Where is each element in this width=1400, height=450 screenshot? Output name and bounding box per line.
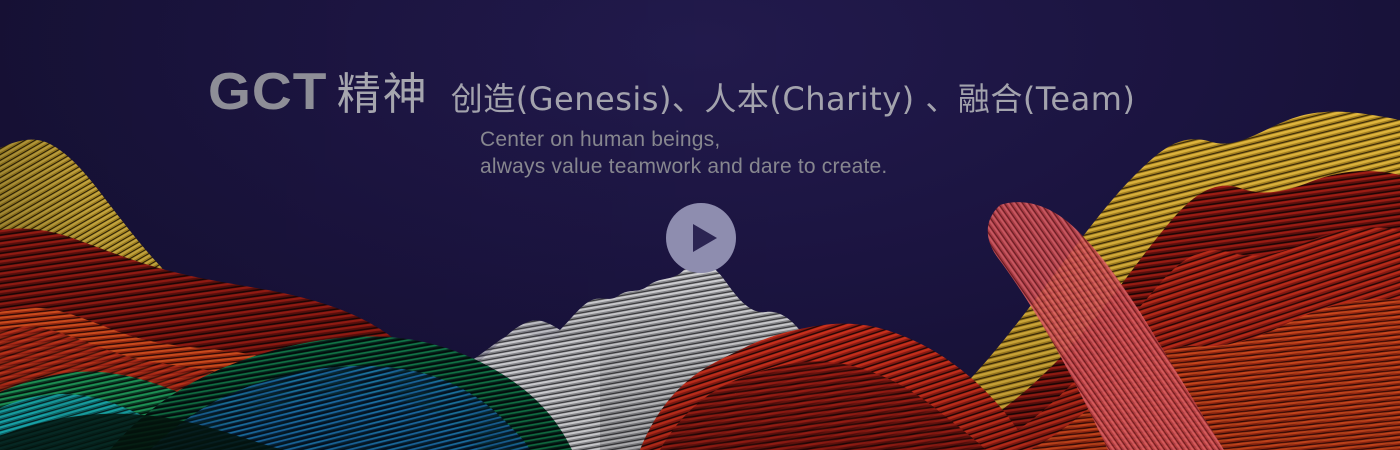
headline-row: GCT 精神 创造(Genesis)、人本(Charity) 、融合(Team)	[208, 66, 1135, 118]
play-icon	[693, 224, 717, 252]
headline-chinese: 创造(Genesis)、人本(Charity) 、融合(Team)	[451, 83, 1136, 115]
brand-cn-label: 精神	[337, 73, 429, 117]
play-button[interactable]	[666, 203, 736, 273]
brand-logotype: GCT	[208, 66, 328, 118]
subtitle: Center on human beings, always value tea…	[480, 126, 887, 180]
subtitle-line-1: Center on human beings,	[480, 126, 887, 153]
hero-banner: GCT 精神 创造(Genesis)、人本(Charity) 、融合(Team)…	[0, 0, 1400, 450]
subtitle-line-2: always value teamwork and dare to create…	[480, 153, 887, 180]
